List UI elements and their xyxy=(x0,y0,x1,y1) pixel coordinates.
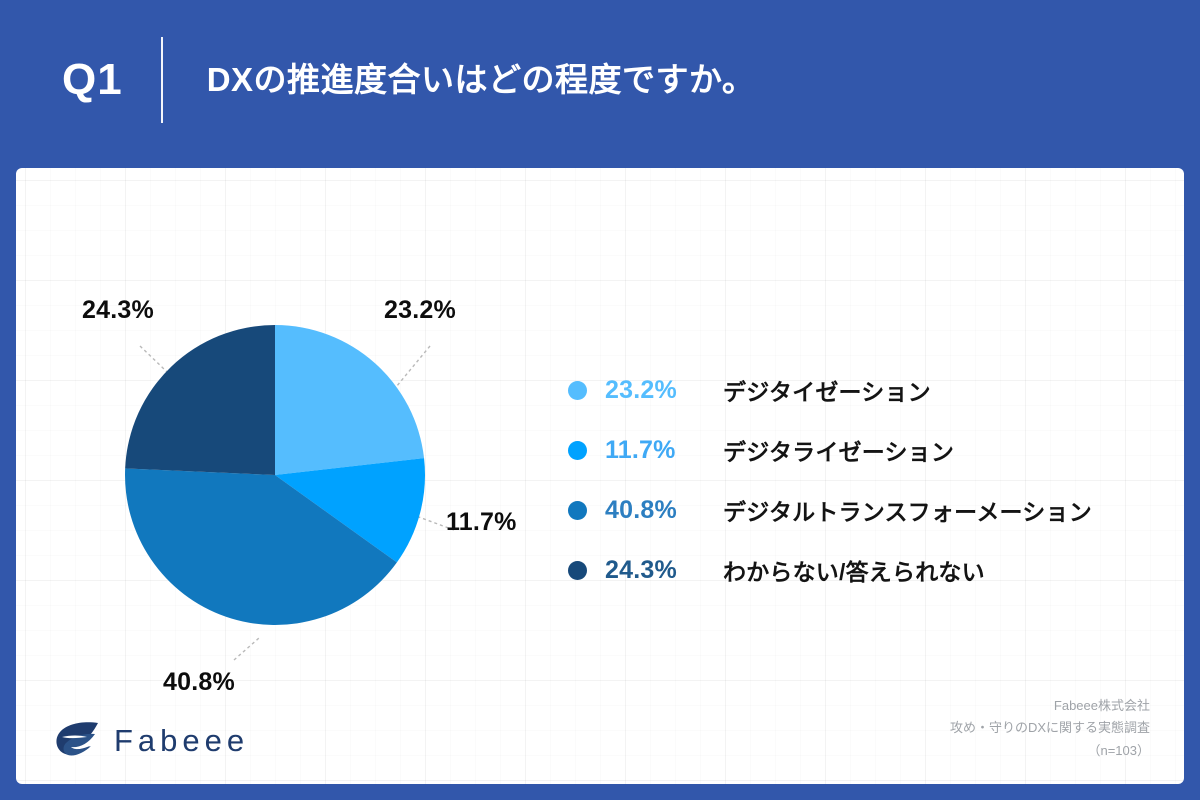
pie-label-243: 24.3% xyxy=(82,296,154,325)
question-number: Q1 xyxy=(62,58,123,102)
page-title: DXの推進度合いはどの程度ですか。 xyxy=(207,60,756,100)
logo-text: Fabeee xyxy=(114,725,249,756)
legend-color-dot-icon xyxy=(568,441,587,460)
source-note: Fabeee株式会社 攻め・守りのDXに関する実態調査 （n=103） xyxy=(950,695,1150,762)
source-survey: 攻め・守りのDXに関する実態調査 xyxy=(950,717,1150,739)
legend-item-digitization[interactable]: 23.2% デジタイゼーション xyxy=(568,360,1178,420)
pie-chart: 23.2% 11.7% 40.8% 24.3% xyxy=(16,168,576,784)
legend-label: わからない/答えられない xyxy=(723,553,985,587)
legend-percent: 24.3% xyxy=(605,556,723,585)
header-divider xyxy=(161,37,163,123)
pie-label-23: 23.2% xyxy=(384,296,456,325)
legend-label: デジタイゼーション xyxy=(723,373,931,407)
legend-percent: 40.8% xyxy=(605,496,723,525)
pie-slice-4 xyxy=(125,325,275,475)
legend-percent: 11.7% xyxy=(605,436,723,465)
content-card: 23.2% 11.7% 40.8% 24.3% 23.2% デジタイゼーション … xyxy=(16,168,1184,784)
brand-logo[interactable]: Fabeee xyxy=(54,720,249,760)
pie-label-408: 40.8% xyxy=(163,668,235,697)
legend-color-dot-icon xyxy=(568,561,587,580)
source-sample-size: （n=103） xyxy=(950,740,1150,762)
source-company: Fabeee株式会社 xyxy=(950,695,1150,717)
legend-item-digitalization[interactable]: 11.7% デジタライゼーション xyxy=(568,420,1178,480)
legend-percent: 23.2% xyxy=(605,376,723,405)
pie-label-117: 11.7% xyxy=(446,508,517,537)
leaf-icon xyxy=(54,720,100,760)
legend-label: デジタルトランスフォーメーション xyxy=(723,493,1092,527)
legend-item-unknown[interactable]: 24.3% わからない/答えられない xyxy=(568,540,1178,600)
legend-label: デジタライゼーション xyxy=(723,433,954,467)
pie-slice-1 xyxy=(275,325,424,475)
pie-chart-svg xyxy=(16,168,576,784)
leader-line-408 xyxy=(234,638,259,660)
legend-item-dx[interactable]: 40.8% デジタルトランスフォーメーション xyxy=(568,480,1178,540)
legend-color-dot-icon xyxy=(568,501,587,520)
chart-legend: 23.2% デジタイゼーション 11.7% デジタライゼーション 40.8% デ… xyxy=(568,360,1178,600)
slide-root: Q1 DXの推進度合いはどの程度ですか。 xyxy=(0,0,1200,800)
slide-header: Q1 DXの推進度合いはどの程度ですか。 xyxy=(0,0,1200,160)
legend-color-dot-icon xyxy=(568,381,587,400)
